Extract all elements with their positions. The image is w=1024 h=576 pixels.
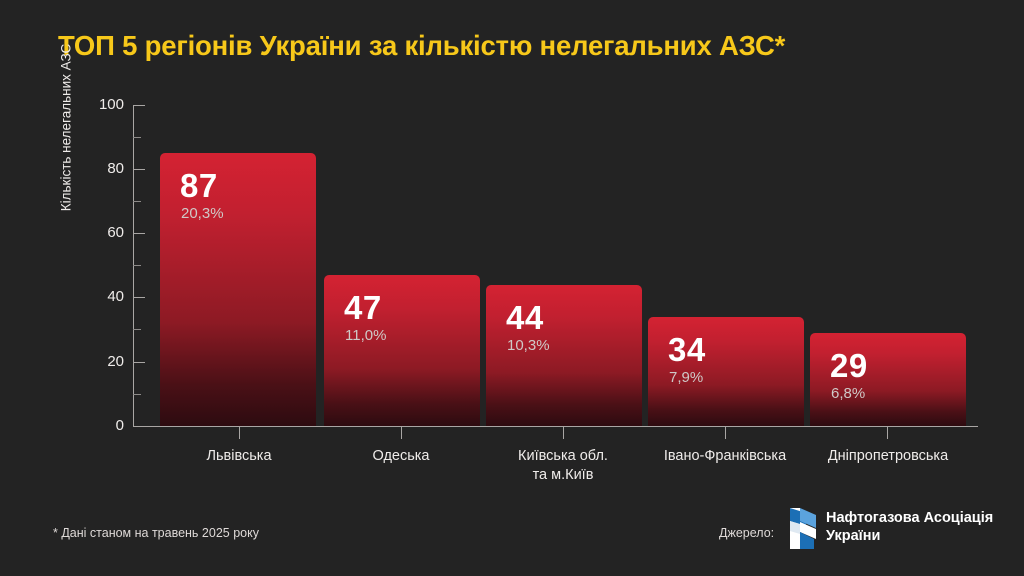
bar-lvivska[interactable]: 87 20,3% — [160, 153, 316, 426]
x-tick-3 — [563, 427, 564, 439]
x-tick-2 — [401, 427, 402, 439]
y-tick-label-40: 40 — [82, 288, 124, 305]
x-tick-4 — [725, 427, 726, 439]
x-label-ivano-frankivska-line1: Івано-Франківська — [641, 447, 809, 466]
y-tick-label-20: 20 — [82, 353, 124, 370]
y-tick-minor-50 — [133, 265, 141, 266]
x-label-kyivska-line2: та м.Київ — [483, 466, 643, 485]
source-label: Джерело: — [719, 526, 774, 540]
bar-value-ivano-frankivska: 34 — [668, 333, 706, 366]
bar-dnipropetrovska[interactable]: 29 6,8% — [810, 333, 966, 426]
x-label-dnipropetrovska-line1: Дніпропетровська — [805, 447, 971, 466]
y-tick-40 — [133, 297, 145, 298]
y-tick-label-60: 60 — [82, 224, 124, 241]
y-tick-label-0: 0 — [82, 417, 124, 434]
page-title: ТОП 5 регіонів України за кількістю неле… — [58, 30, 998, 62]
bar-value-lvivska: 87 — [180, 169, 218, 202]
y-tick-100 — [133, 105, 145, 106]
x-tick-5 — [887, 427, 888, 439]
x-label-kyivska-line1: Київська обл. — [483, 447, 643, 466]
y-tick-minor-10 — [133, 394, 141, 395]
x-label-lvivska-line1: Львівська — [159, 447, 319, 466]
bar-value-dnipropetrovska: 29 — [830, 349, 868, 382]
y-axis-spine — [133, 105, 134, 427]
bar-kyivska[interactable]: 44 10,3% — [486, 285, 642, 426]
bar-ivano-frankivska[interactable]: 34 7,9% — [648, 317, 804, 426]
y-tick-label-100: 100 — [82, 96, 124, 113]
source-logo-line1: Нафтогазова Асоціація — [826, 509, 993, 527]
x-label-kyivska: Київська обл. та м.Київ — [483, 447, 643, 485]
naftogazova-asociacia-logo-icon — [786, 506, 820, 551]
y-tick-label-80: 80 — [82, 160, 124, 177]
source-logo-line2: України — [826, 527, 993, 545]
x-axis-spine — [133, 426, 978, 427]
bar-percent-lvivska: 20,3% — [181, 206, 224, 221]
y-tick-minor-70 — [133, 201, 141, 202]
bar-value-kyivska: 44 — [506, 301, 544, 334]
y-tick-60 — [133, 233, 145, 234]
bar-odeska[interactable]: 47 11,0% — [324, 275, 480, 426]
bar-percent-kyivska: 10,3% — [507, 338, 550, 353]
x-label-ivano-frankivska: Івано-Франківська — [641, 447, 809, 466]
bar-value-odeska: 47 — [344, 291, 382, 324]
bar-percent-ivano-frankivska: 7,9% — [669, 370, 703, 385]
y-axis-title: Кількість нелегальних АЗС — [59, 8, 74, 248]
bar-percent-dnipropetrovska: 6,8% — [831, 386, 865, 401]
infographic-canvas: ТОП 5 регіонів України за кількістю неле… — [0, 0, 1024, 576]
source-logo-text: Нафтогазова Асоціація України — [826, 509, 993, 545]
source-logo[interactable]: Нафтогазова Асоціація України — [786, 503, 1001, 555]
x-tick-1 — [239, 427, 240, 439]
x-label-odeska: Одеська — [321, 447, 481, 466]
x-label-dnipropetrovska: Дніпропетровська — [805, 447, 971, 466]
bar-percent-odeska: 11,0% — [345, 328, 386, 343]
y-tick-minor-30 — [133, 329, 141, 330]
y-tick-80 — [133, 169, 145, 170]
x-label-odeska-line1: Одеська — [321, 447, 481, 466]
y-tick-minor-90 — [133, 137, 141, 138]
x-label-lvivska: Львівська — [159, 447, 319, 466]
footnote: * Дані станом на травень 2025 року — [53, 526, 259, 540]
y-tick-0 — [133, 426, 145, 427]
y-tick-20 — [133, 362, 145, 363]
